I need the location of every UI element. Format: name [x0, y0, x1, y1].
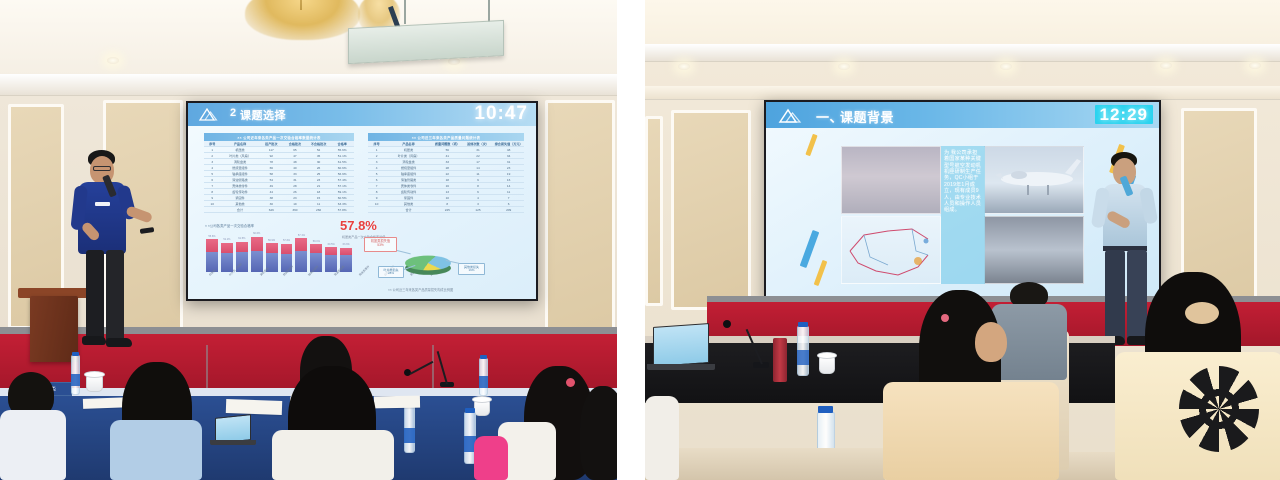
cell: 626 [260, 207, 284, 213]
ceiling-downlight [1249, 62, 1261, 69]
tea-cup-lid [472, 396, 492, 403]
bar [206, 239, 218, 272]
clock-display: 12:29 [1095, 105, 1153, 124]
left-presentation-photo: 2 课题选择 10:47 ×× 公司近年来各类产品一次交验合格率数据统计表 序号… [0, 0, 617, 480]
bar-segment-top [310, 244, 322, 253]
cell: 245 [432, 207, 463, 213]
col-header: 返修次数（次） [463, 141, 494, 147]
two-panel-photo-composite: 2 课题选择 10:47 ×× 公司近年来各类产品一次交验合格率数据统计表 序号… [0, 0, 1280, 480]
audience-torso [0, 410, 66, 480]
bar-segment-top [221, 243, 233, 254]
cornice-right [645, 44, 1280, 62]
audience-torso [272, 430, 394, 480]
audience-hair [580, 386, 617, 480]
audience-torso [883, 382, 1059, 480]
bar-value: 56.9% [268, 240, 275, 243]
projection-screen-left: 2 课题选择 10:47 ×× 公司近年来各类产品一次交验合格率数据统计表 序号… [186, 101, 538, 301]
bar-segment-bottom [325, 255, 337, 272]
callout-primary: 机匣类损失值 53% [364, 237, 397, 252]
slide-table-right: ×× 公司近三年来各类产品质量问题统计表 序号 产品名称 质量问题数（项） 返修… [368, 133, 524, 213]
highlight-percentage: 57.8% [340, 219, 377, 232]
aircraft-photo [984, 146, 1084, 214]
stage-seam [432, 345, 434, 393]
handout-paper [226, 399, 282, 415]
cell: 266 [307, 207, 331, 213]
glasses-icon [93, 166, 111, 171]
slide-body-text: 为 我公司承担着国家某种关键型号航空发动机机匣研制生产任务，QC小组于2019年… [941, 146, 985, 284]
bar-chart: 55.6% 51.1% 61.5% 60.6% 56.9% 57.4% 57.1… [206, 230, 352, 272]
bar-value: 60.5% [328, 244, 335, 247]
callout-secondary: 叶片类损失 28% [378, 266, 404, 278]
bar-group: 55.6% [206, 230, 218, 272]
table-body: 1机匣类563148 2叶片类（风扇）412234 3涡轮盘类331731 4燃… [368, 147, 524, 213]
table-row-total: 合计62636026657.8% [204, 207, 354, 213]
red-thermos[interactable] [773, 338, 787, 382]
col-header: 质量问题数（项） [432, 141, 463, 147]
decor-bar [805, 134, 817, 156]
ceiling-soffit [645, 86, 1280, 100]
bar-group: 60.5% [325, 230, 337, 272]
bar-chart-axis-labels: 机匣类 叶片类（风扇） 涡轮盘类 燃烧室组件 轴承座组件 滑油管路类 壳体类零件… [208, 274, 354, 278]
bottle-label [797, 350, 809, 365]
bar-group: 57.1% [295, 230, 307, 272]
audience-torso [110, 420, 202, 480]
projector-stem [404, 0, 406, 24]
chandelier-arm [300, 0, 302, 10]
presenter-leg-right [1127, 250, 1147, 342]
cell: 125 [463, 207, 494, 213]
bar-segment-top [295, 238, 307, 250]
bottle-cap [480, 355, 487, 359]
hair-accessory [1185, 302, 1219, 324]
bar-value: 63.3% [343, 244, 350, 247]
bar-group: 56.9% [266, 230, 278, 272]
bar-group: 60.6% [251, 230, 263, 272]
decor-bar [814, 260, 828, 286]
bar-segment-top [236, 242, 248, 252]
bar-segment-top [251, 237, 263, 251]
laptop-base [647, 364, 715, 370]
laptop-base [210, 440, 256, 445]
presenter-shoe [82, 336, 106, 345]
bar-segment-top [325, 247, 337, 254]
bar [251, 237, 263, 272]
bar [295, 238, 307, 272]
tea-cup-lid [84, 371, 105, 378]
cell [204, 207, 221, 213]
bottle-cap [798, 322, 808, 327]
clock-display: 10:47 [474, 104, 528, 123]
callout-value: 28% [388, 271, 394, 275]
slide-table-left: ×× 公司近年来各类产品一次交验合格率数据统计表 序号 产品名称 投产批次 合格… [204, 133, 354, 213]
presenter-leg-right [106, 250, 124, 342]
bottle-cap [818, 406, 833, 413]
cell: 合计 [385, 207, 432, 213]
callout-value: 19% [468, 268, 474, 272]
conference-mic-head [723, 320, 731, 328]
wall-panel [545, 100, 615, 345]
table-row-total: 合计245125209 [368, 207, 524, 213]
bar-value: 59.1% [313, 241, 320, 244]
bar-value: 55.6% [208, 236, 215, 239]
wall-panel [671, 110, 751, 310]
bar-segment-top [266, 243, 278, 252]
ceiling-downlight [1160, 62, 1172, 69]
bar-value: 57.1% [298, 235, 305, 238]
shirt-flower-print [1179, 366, 1259, 452]
pie-chart [405, 243, 451, 283]
ceiling-downlight [448, 58, 460, 65]
podium [30, 296, 78, 362]
handout-paper [374, 396, 420, 409]
data-table: 序号 产品名称 投产批次 合格批次 不合格批次 合格率 1机匣类11765525… [204, 141, 354, 213]
cell: 360 [283, 207, 307, 213]
bottle-cap [465, 408, 475, 413]
team-group-photo [841, 146, 941, 214]
engine-casing-photo [984, 216, 1084, 284]
presenter-badge [95, 202, 110, 206]
pie-surface [405, 256, 451, 271]
bar-value: 61.5% [238, 238, 245, 241]
ceiling-downlight [1000, 63, 1012, 70]
panel-gutter [617, 0, 645, 480]
bottle-label [404, 428, 415, 443]
cell [368, 207, 385, 213]
front-table [645, 448, 885, 480]
slide-section-number: 一、 [816, 107, 843, 126]
bar [325, 247, 337, 272]
bottle-label [71, 374, 80, 386]
bar [221, 243, 233, 272]
bar-chart-caption: × ×公司各类产品一次交验合格率 [205, 223, 254, 228]
wall-panel [645, 116, 663, 306]
slide-number: 2 [230, 107, 237, 119]
cell: 57.8% [330, 207, 354, 213]
slide-left: 2 课题选择 10:47 ×× 公司近年来各类产品一次交验合格率数据统计表 序号… [188, 103, 536, 299]
bottle-label [479, 376, 488, 388]
bar-value: 60.6% [253, 233, 260, 236]
stage-seam [206, 345, 208, 393]
audience-torso [645, 396, 679, 480]
bar-group: 51.1% [221, 230, 233, 272]
data-table: 序号 产品名称 质量问题数（项） 返修次数（次） 综合损失值（万元） 1机匣类5… [368, 141, 524, 213]
presenter-leg-left [86, 250, 104, 342]
col-header: 综合损失值（万元） [493, 141, 524, 147]
mountain-logo-icon [778, 108, 804, 127]
bar-segment-top [340, 248, 352, 255]
process-flow-diagram [841, 216, 941, 284]
mountain-logo-icon [198, 108, 220, 123]
slide-title: 课题背景 [840, 107, 894, 126]
decor-bar [800, 230, 820, 268]
bar-segment-bottom [251, 251, 263, 272]
hair-accessory [941, 314, 949, 322]
bottle-cap [72, 352, 79, 356]
table-caption: ×× 公司近年来各类产品一次交验合格率数据统计表 [204, 133, 354, 141]
bar-value: 57.4% [283, 240, 290, 243]
cornice-left [0, 74, 617, 96]
hair-accessory [566, 378, 575, 387]
bar-segment-top [281, 244, 293, 254]
pie-chart-caption: ×× 公司近三年来各类产品质量损失构成比例图 [388, 287, 453, 292]
laptop-screen[interactable] [653, 323, 709, 367]
axis-label: 壳体类零件 [358, 264, 370, 276]
table-body: 1机匣类117655255.6% 2叶片类（风扇）92474551.1% 3涡轮… [204, 147, 354, 213]
bar-segment-bottom [295, 251, 307, 272]
callout-tertiary: 其他类损失 19% [458, 263, 485, 275]
ceiling-downlight [678, 63, 690, 70]
tea-cup-lid [817, 352, 837, 359]
ceiling-downlight [107, 57, 119, 64]
audience-torso-accent [474, 436, 508, 480]
ceiling-downlight [838, 63, 850, 70]
cell: 合计 [221, 207, 260, 213]
table-caption: ×× 公司近三年来各类产品质量问题统计表 [368, 133, 524, 141]
bar-segment-top [206, 239, 218, 251]
presenter-shoe [106, 338, 132, 347]
cell: 209 [493, 207, 524, 213]
callout-value: 53% [377, 243, 383, 247]
slide-title: 课题选择 [240, 107, 286, 123]
bar-value: 51.1% [223, 239, 230, 242]
right-presentation-photo: 一、 课题背景 12:29 [645, 0, 1280, 480]
audience-head [975, 322, 1007, 362]
presenter-leg-left [1105, 250, 1125, 342]
